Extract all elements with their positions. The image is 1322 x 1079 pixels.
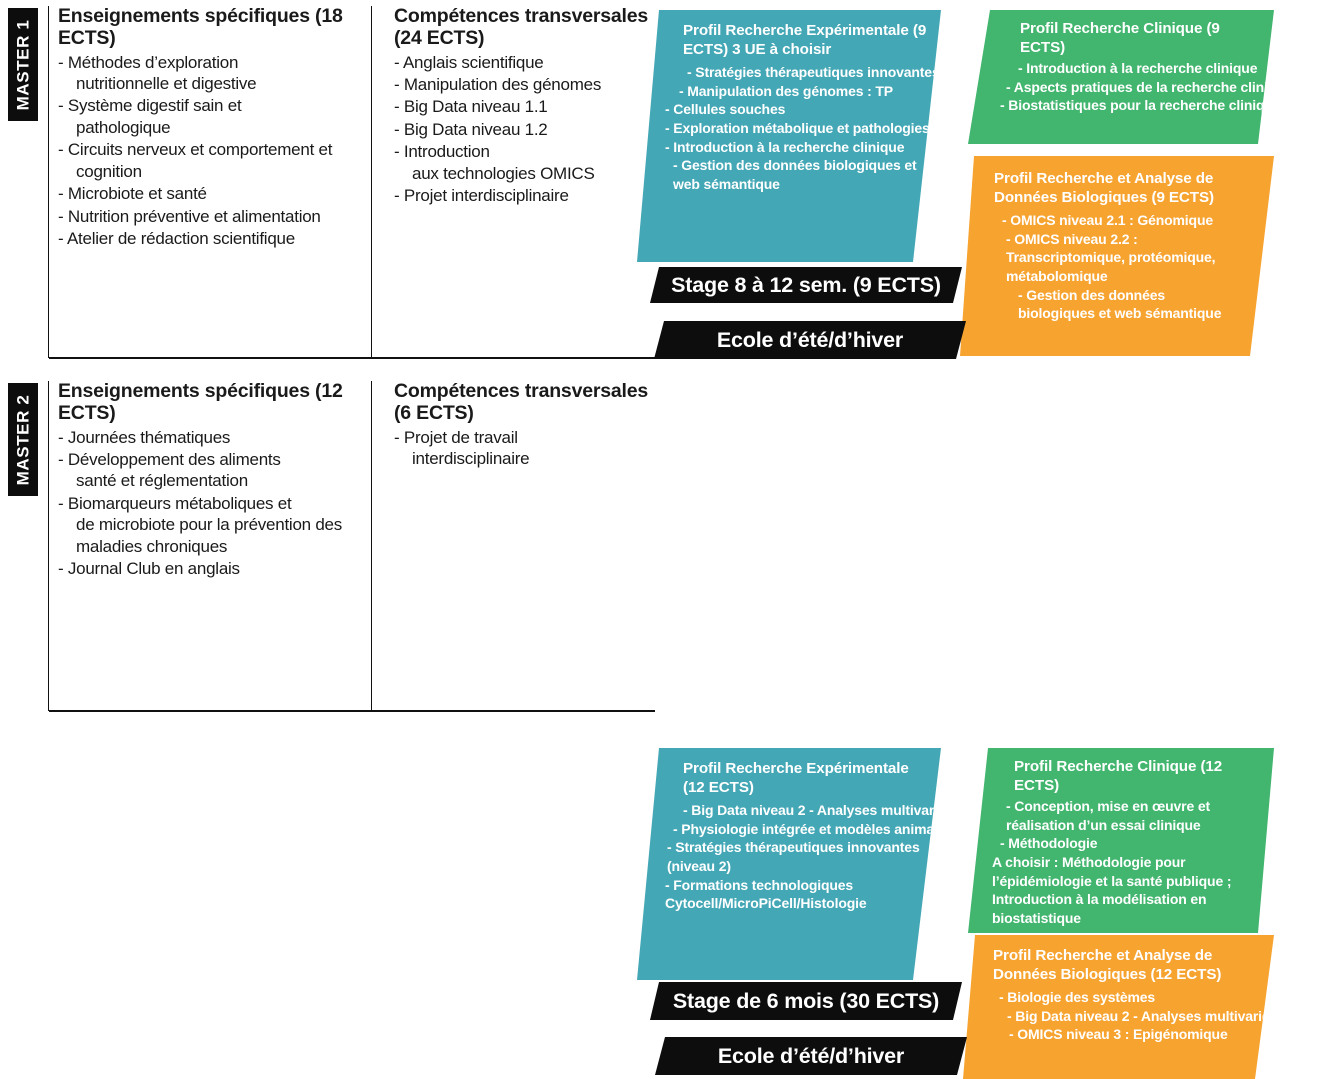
list-item: - Biostatistiques pour la recherche clin… [998, 96, 1266, 115]
list-item: - Introduction à la recherche clinique [998, 59, 1266, 78]
master1-school-banner: Ecole d’été/d’hiver [654, 321, 966, 359]
list-item: - Manipulation des génomes [394, 74, 658, 95]
panel-list: - Conception, mise en œuvre et réalisati… [992, 797, 1266, 927]
master2-section: MASTER 2 Enseignements spécifiques (12 E… [0, 369, 1322, 718]
master1-transversal-heading: Compétences transversales (24 ECTS) [394, 6, 658, 50]
list-item: - Stratégies thérapeutiques innovantes (… [665, 838, 931, 875]
panel-title: Profil Recherche Clinique (9 ECTS) [998, 20, 1266, 57]
master2-core-columns: Enseignements spécifiques (12 ECTS) - Jo… [58, 381, 658, 711]
list-item: - Manipulation des génomes : TP [665, 82, 931, 101]
master1-specific-heading: Enseignements spécifiques (18 ECTS) [58, 6, 363, 50]
list-item-text: - Projet de travail [394, 428, 518, 447]
list-item: - OMICS niveau 3 : Epigénomique [987, 1025, 1266, 1044]
list-item: - OMICS niveau 2.1 : Génomique [988, 211, 1266, 230]
list-item-text: - Microbiote et santé [58, 184, 207, 203]
master2-experimental-panel: Profil Recherche Expérimentale (12 ECTS)… [637, 748, 941, 980]
list-item: - Développement des alimentssanté et rég… [58, 449, 363, 492]
list-item: - Big Data niveau 2 - Analyses multivari… [987, 1007, 1266, 1026]
list-item: - Projet de travailinterdisciplinaire [394, 427, 658, 470]
panel-list: - Stratégies thérapeutiques innovantes -… [665, 63, 931, 193]
list-item: - Big Data niveau 1.1 [394, 96, 658, 117]
list-item: - Introduction à la recherche clinique [665, 138, 931, 157]
master2-transversal-heading: Compétences transversales (6 ECTS) [394, 381, 658, 425]
list-item: - Gestion des données biologiques et web… [988, 286, 1244, 323]
list-item-text: - Big Data niveau 1.2 [394, 120, 548, 139]
list-item: - Conception, mise en œuvre et réalisati… [992, 797, 1266, 834]
list-item-text: - Atelier de rédaction scientifique [58, 229, 295, 248]
list-item-text: - Nutrition préventive et alimentation [58, 207, 321, 226]
master2-specific-list: - Journées thématiques - Développement d… [58, 427, 363, 580]
list-item: - Atelier de rédaction scientifique [58, 228, 363, 249]
list-item: - Big Data niveau 2 - Analyses multivari… [665, 801, 931, 820]
list-item: - Cellules souches [665, 100, 931, 119]
master2-school-banner: Ecole d’été/d’hiver [655, 1037, 967, 1075]
list-item: - Journées thématiques [58, 427, 363, 448]
list-item-text: - Big Data niveau 1.1 [394, 97, 548, 116]
list-item: - Biomarqueurs métaboliques etde microbi… [58, 493, 363, 557]
master2-year-tab: MASTER 2 [8, 383, 38, 496]
list-item-text: - Manipulation des génomes [394, 75, 601, 94]
panel-list: - Biologie des systèmes - Big Data nivea… [987, 988, 1266, 1044]
list-item-text: - Journal Club en anglais [58, 559, 240, 578]
master2-specific-column: Enseignements spécifiques (12 ECTS) - Jo… [58, 381, 371, 711]
list-item-text: - Circuits nerveux et comportement et [58, 140, 332, 159]
list-item-cont: de microbiote pour la prévention des mal… [67, 514, 363, 557]
list-item: - Projet interdisciplinaire [394, 185, 658, 206]
master1-specific-list: - Méthodes d’explorationnutritionnelle e… [58, 52, 363, 250]
master2-year-label: MASTER 2 [13, 394, 33, 485]
list-item: - Méthodologie [992, 834, 1266, 853]
list-item: - Aspects pratiques de la recherche clin… [998, 78, 1266, 97]
list-item-cont: pathologique [67, 117, 363, 138]
list-item: - Journal Club en anglais [58, 558, 363, 579]
master2-transversal-column: Compétences transversales (6 ECTS) - Pro… [371, 381, 658, 711]
list-item-text: - Anglais scientifique [394, 53, 543, 72]
panel-list: - Introduction à la recherche clinique -… [998, 59, 1266, 115]
list-item: - Anglais scientifique [394, 52, 658, 73]
list-item-text: - Journées thématiques [58, 428, 230, 447]
master1-section: MASTER 1 Enseignements spécifiques (18 E… [0, 0, 1322, 369]
master1-data-panel: Profil Recherche et Analyse de Données B… [960, 156, 1274, 356]
master1-year-label: MASTER 1 [13, 19, 33, 110]
panel-title: Profil Recherche et Analyse de Données B… [988, 170, 1244, 207]
list-item: - Système digestif sain etpathologique [58, 95, 363, 138]
master2-internship-banner: Stage de 6 mois (30 ECTS) [650, 982, 962, 1020]
panel-list: - OMICS niveau 2.1 : Génomique - OMICS n… [988, 211, 1266, 323]
master2-transversal-list: - Projet de travailinterdisciplinaire [394, 427, 658, 470]
list-item-cont: nutritionnelle et digestive [67, 73, 363, 94]
list-item: - Méthodes d’explorationnutritionnelle e… [58, 52, 363, 95]
list-item: - Biologie des systèmes [987, 988, 1266, 1007]
list-item: - OMICS niveau 2.2 : Transcriptomique, p… [988, 230, 1250, 286]
list-item-cont: interdisciplinaire [403, 448, 658, 469]
list-item-text: - Introduction [394, 142, 490, 161]
panel-title: Profil Recherche et Analyse de Données B… [987, 947, 1251, 984]
master1-clinical-panel: Profil Recherche Clinique (9 ECTS) - Int… [968, 10, 1274, 144]
list-item: - Physiologie intégrée et modèles animau… [665, 820, 931, 839]
list-item: - Exploration métabolique et pathologies [665, 119, 931, 138]
list-item-text: - Biomarqueurs métaboliques et [58, 494, 291, 513]
master1-transversal-column: Compétences transversales (24 ECTS) - An… [371, 6, 658, 358]
list-item-text: - Système digestif sain et [58, 96, 241, 115]
panel-title: Profil Recherche Expérimentale (9 ECTS) … [665, 22, 931, 59]
list-item-text: - Projet interdisciplinaire [394, 186, 569, 205]
list-item: - Formations technologiques Cytocell/Mic… [665, 876, 927, 913]
master1-specific-column: Enseignements spécifiques (18 ECTS) - Mé… [58, 6, 371, 358]
master1-transversal-list: - Anglais scientifique - Manipulation de… [394, 52, 658, 207]
master1-year-tab: MASTER 1 [8, 8, 38, 121]
master1-core-columns: Enseignements spécifiques (18 ECTS) - Mé… [58, 6, 658, 358]
list-item: - Gestion des données biologiques et web… [665, 156, 931, 193]
list-item-text: - Développement des aliments [58, 450, 281, 469]
master2-data-panel: Profil Recherche et Analyse de Données B… [963, 935, 1274, 1079]
master1-experimental-panel: Profil Recherche Expérimentale (9 ECTS) … [637, 10, 941, 262]
panel-list: - Big Data niveau 2 - Analyses multivari… [665, 801, 931, 913]
list-item-cont: cognition [67, 161, 363, 182]
list-item: - Big Data niveau 1.2 [394, 119, 658, 140]
master2-clinical-panel: Profil Recherche Clinique (12 ECTS) - Co… [968, 748, 1274, 933]
list-item: - Circuits nerveux et comportement etcog… [58, 139, 363, 182]
list-item-text: - Méthodes d’exploration [58, 53, 238, 72]
list-item: - Stratégies thérapeutiques innovantes [665, 63, 931, 82]
list-item: - Microbiote et santé [58, 183, 363, 204]
list-item: A choisir : Méthodologie pour l’épidémio… [992, 853, 1266, 927]
list-item-cont: santé et réglementation [67, 470, 363, 491]
panel-title: Profil Recherche Expérimentale (12 ECTS) [665, 760, 931, 797]
panel-title: Profil Recherche Clinique (12 ECTS) [992, 758, 1266, 795]
list-item-cont: aux technologies OMICS [403, 163, 658, 184]
list-item: - Nutrition préventive et alimentation [58, 206, 363, 227]
list-item: - Introductionaux technologies OMICS [394, 141, 658, 184]
master2-specific-heading: Enseignements spécifiques (12 ECTS) [58, 381, 363, 425]
master1-internship-banner: Stage 8 à 12 sem. (9 ECTS) [650, 267, 962, 303]
